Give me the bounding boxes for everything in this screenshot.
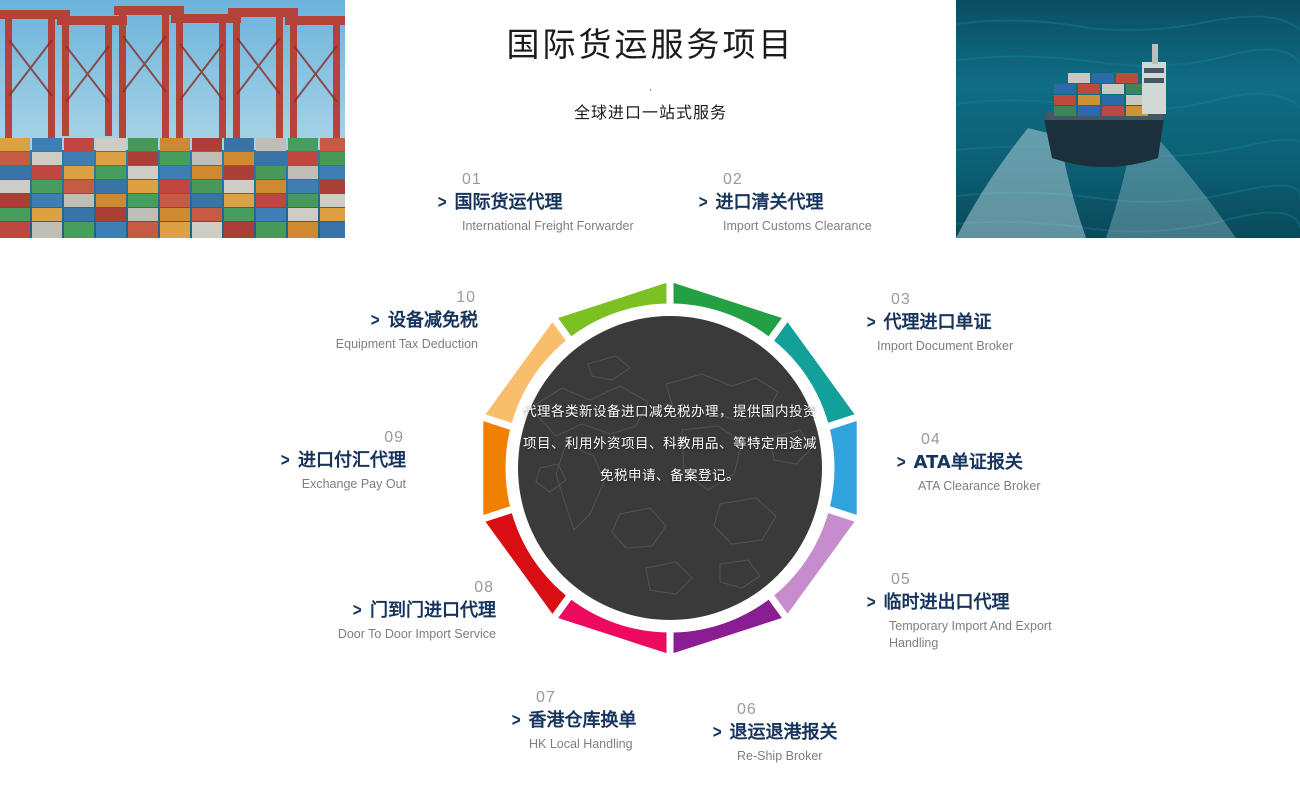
- service-number-08: 08: [268, 578, 496, 597]
- service-label-02[interactable]: 02 > 进口清关代理 Import Customs Clearance: [698, 170, 872, 235]
- chevron-right-icon: >: [438, 190, 447, 214]
- service-label-05[interactable]: 05 > 临时进出口代理 Temporary Import And Export…: [866, 570, 1066, 652]
- page-subtitle: 全球进口一站式服务: [345, 102, 956, 126]
- service-number-02: 02: [698, 170, 872, 189]
- service-title-08: 门到门进口代理: [370, 599, 496, 623]
- port-photo-left: [0, 0, 345, 238]
- service-title-04: ATA单证报关: [914, 451, 1023, 475]
- wheel-center-description: 代理各类新设备进口减免税办理，提供国内投资项目、利用外资项目、科教用品、等特定用…: [519, 396, 821, 492]
- chevron-right-icon: >: [512, 708, 521, 732]
- chevron-right-icon: >: [371, 308, 380, 332]
- chevron-right-icon: >: [699, 190, 708, 214]
- service-label-09[interactable]: 09 > 进口付汇代理 Exchange Pay Out: [220, 428, 406, 493]
- service-number-05: 05: [866, 570, 1066, 589]
- service-title-03: 代理进口单证: [884, 311, 992, 335]
- service-number-07: 07: [511, 688, 637, 707]
- service-label-01[interactable]: 01 > 国际货运代理 International Freight Forwar…: [437, 170, 634, 235]
- chevron-right-icon: >: [867, 590, 876, 614]
- service-title-02: 进口清关代理: [716, 191, 824, 215]
- chevron-right-icon: >: [867, 310, 876, 334]
- service-subtitle-07: HK Local Handling: [511, 736, 637, 753]
- service-number-03: 03: [866, 290, 1013, 309]
- page-header: 国际货运服务项目 · 全球进口一站式服务: [345, 22, 956, 126]
- service-title-06: 退运退港报关: [730, 721, 838, 745]
- service-title-10: 设备减免税: [388, 309, 478, 333]
- service-title-07: 香港仓库换单: [529, 709, 637, 733]
- service-subtitle-06: Re-Ship Broker: [712, 748, 838, 765]
- service-subtitle-02: Import Customs Clearance: [698, 218, 872, 235]
- service-label-08[interactable]: 08 > 门到门进口代理 Door To Door Import Service: [268, 578, 496, 643]
- chevron-right-icon: >: [713, 720, 722, 744]
- service-title-09: 进口付汇代理: [298, 449, 406, 473]
- service-number-10: 10: [250, 288, 478, 307]
- page-title: 国际货运服务项目: [345, 22, 956, 68]
- service-subtitle-08: Door To Door Import Service: [268, 626, 496, 643]
- service-subtitle-09: Exchange Pay Out: [220, 476, 406, 493]
- service-subtitle-01: International Freight Forwarder: [437, 218, 634, 235]
- service-number-06: 06: [712, 700, 838, 719]
- chevron-right-icon: >: [353, 598, 362, 622]
- service-subtitle-10: Equipment Tax Deduction: [250, 336, 478, 353]
- chevron-right-icon: >: [897, 450, 906, 474]
- service-subtitle-03: Import Document Broker: [866, 338, 1013, 355]
- cargo-ship-photo-graphic: [956, 0, 1300, 238]
- service-number-04: 04: [896, 430, 1041, 449]
- service-title-05: 临时进出口代理: [884, 591, 1010, 615]
- service-label-06[interactable]: 06 > 退运退港报关 Re-Ship Broker: [712, 700, 838, 765]
- service-label-07[interactable]: 07 > 香港仓库换单 HK Local Handling: [511, 688, 637, 753]
- chevron-right-icon: >: [281, 448, 290, 472]
- service-label-03[interactable]: 03 > 代理进口单证 Import Document Broker: [866, 290, 1013, 355]
- service-subtitle-05: Temporary Import And Export Handling: [866, 618, 1066, 652]
- service-label-04[interactable]: 04 > ATA单证报关 ATA Clearance Broker: [896, 430, 1041, 495]
- service-label-10[interactable]: 10 > 设备减免税 Equipment Tax Deduction: [250, 288, 478, 353]
- service-number-01: 01: [437, 170, 634, 189]
- title-divider-dot: ·: [345, 80, 956, 100]
- port-photo-left-graphic: [0, 0, 345, 238]
- service-number-09: 09: [220, 428, 406, 447]
- cargo-ship-photo-right: [956, 0, 1300, 238]
- service-subtitle-04: ATA Clearance Broker: [896, 478, 1041, 495]
- service-title-01: 国际货运代理: [455, 191, 563, 215]
